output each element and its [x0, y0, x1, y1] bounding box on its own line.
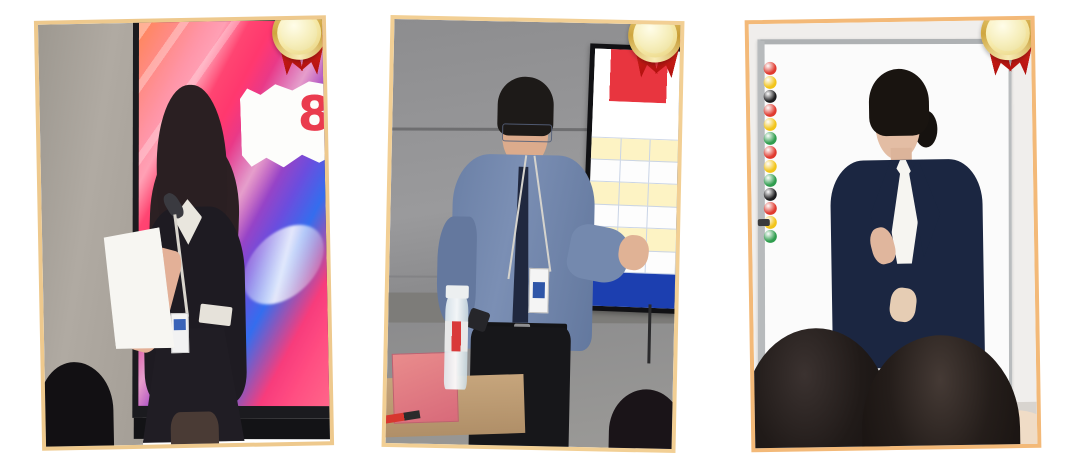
id-badge	[528, 268, 549, 313]
magnet-green	[763, 174, 776, 187]
overlay-number: 8	[298, 90, 330, 138]
gold-award-ribbon-icon[interactable]	[270, 15, 333, 86]
photo-card-3[interactable]	[745, 16, 1042, 453]
whiteboard-magnet-strip	[763, 62, 776, 243]
speaker-figure-1	[107, 84, 273, 447]
magnet-green	[764, 230, 777, 243]
photo-card-2[interactable]	[382, 15, 685, 453]
speaker-figure-3	[828, 67, 985, 375]
bottle-label	[445, 321, 468, 351]
hair	[868, 68, 930, 136]
magnet-green	[763, 132, 776, 145]
legs	[171, 411, 220, 446]
photo-card-1[interactable]: 8	[34, 15, 334, 451]
bottle-cap	[446, 285, 469, 298]
gold-award-ribbon-icon[interactable]	[978, 16, 1041, 87]
magnet-yellow	[763, 76, 776, 89]
magnet-red	[763, 146, 776, 159]
magnet-red	[763, 202, 776, 215]
magnet-red	[763, 104, 776, 117]
magnet-yellow	[763, 118, 776, 131]
whiteboard-marker	[757, 219, 769, 226]
gold-award-ribbon-icon[interactable]	[625, 15, 684, 89]
magnet-yellow	[763, 160, 776, 173]
magnet-red	[763, 62, 776, 75]
sleeve-cuff-trim	[198, 303, 232, 326]
eyeglasses-icon	[502, 123, 552, 142]
magnet-black	[763, 90, 776, 103]
whiteboard-top-frame	[760, 39, 1008, 44]
magnet-black	[763, 188, 776, 201]
photo-strip-stage: 8	[0, 0, 1080, 464]
